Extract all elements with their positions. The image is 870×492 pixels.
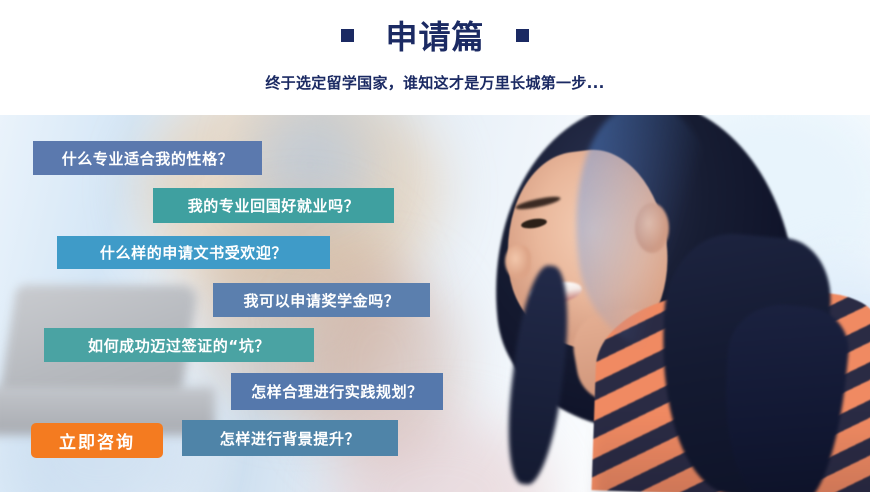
question-tag[interactable]: 怎样合理进行实践规划？	[231, 373, 443, 410]
promo-banner: 申请篇 终于选定留学国家，谁知这才是万里长城第一步... 什么专业适合我的性格？…	[0, 0, 870, 492]
student-portrait	[455, 115, 870, 492]
square-bullet-right-icon	[516, 29, 529, 42]
question-tag[interactable]: 什么样的申请文书受欢迎？	[57, 236, 330, 269]
page-title: 申请篇	[0, 18, 870, 56]
banner-header: 申请篇 终于选定留学国家，谁知这才是万里长城第一步...	[0, 0, 870, 115]
question-tag[interactable]: 我的专业回国好就业吗？	[153, 188, 394, 223]
square-bullet-left-icon	[341, 29, 354, 42]
question-tag[interactable]: 怎样进行背景提升？	[182, 420, 398, 456]
question-tag[interactable]: 什么专业适合我的性格？	[33, 141, 262, 175]
consult-now-button[interactable]: 立即咨询	[31, 423, 163, 458]
page-subtitle: 终于选定留学国家，谁知这才是万里长城第一步...	[0, 72, 870, 93]
page-title-text: 申请篇	[385, 18, 484, 56]
question-tag[interactable]: 如何成功迈过签证的“坑？	[44, 328, 314, 362]
nose	[505, 245, 531, 279]
question-tag[interactable]: 我可以申请奖学金吗？	[213, 283, 430, 317]
